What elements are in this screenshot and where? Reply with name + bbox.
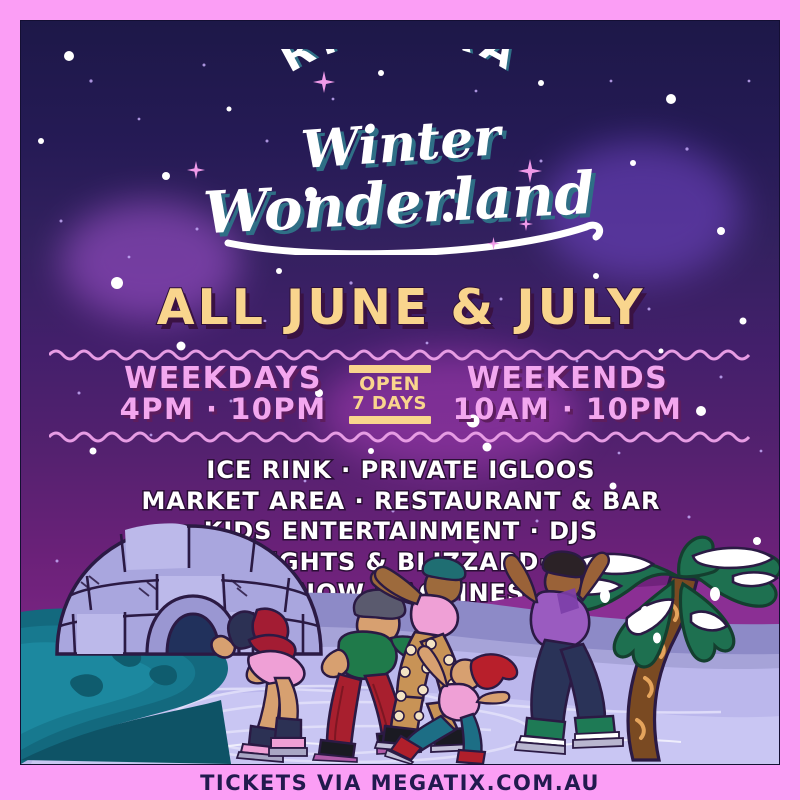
footer-bar: TICKETS VIA MEGATIX.COM.AU	[0, 765, 800, 800]
brand-arch-label: RIVIERA	[272, 49, 531, 82]
weekends-column: WEEKENDS 10AM · 10PM	[453, 364, 683, 424]
weekends-label: WEEKENDS	[453, 364, 683, 395]
weekdays-column: WEEKDAYS 4PM · 10PM	[120, 364, 327, 424]
brand-arch-text: RIVIERA RIVIERA	[21, 49, 780, 121]
logo-block: RIVIERA RIVIERA Winter	[21, 49, 780, 247]
weekends-time: 10AM · 10PM	[453, 395, 683, 425]
page-title: ALL JUNE & JULY	[21, 279, 780, 336]
poster-canvas: RIVIERA RIVIERA Winter	[0, 0, 800, 800]
sparkle-icon	[518, 159, 542, 183]
poster-artwork: RIVIERA RIVIERA Winter	[20, 20, 780, 765]
winter-scene-illustration	[21, 464, 780, 764]
badge-bar-bottom	[349, 416, 431, 424]
badge-line-1: OPEN	[349, 375, 431, 395]
wave-divider-bottom	[49, 429, 753, 445]
sparkle-icon	[313, 71, 335, 93]
weekdays-label: WEEKDAYS	[120, 364, 327, 395]
svg-text:RIVIERA: RIVIERA	[272, 49, 531, 82]
weekdays-time: 4PM · 10PM	[120, 395, 327, 425]
badge-line-2: 7 DAYS	[349, 395, 431, 414]
sparkle-icon	[487, 237, 500, 250]
sparkle-icon	[187, 161, 205, 179]
open-7-days-badge: OPEN 7 DAYS	[349, 363, 431, 426]
hours-section: WEEKDAYS 4PM · 10PM OPEN 7 DAYS WEEKENDS…	[21, 363, 780, 426]
logo-script-block: Winter Winter Wonderland Wonderland	[21, 115, 780, 247]
tickets-text: TICKETS VIA MEGATIX.COM.AU	[200, 771, 600, 795]
badge-bar-top	[349, 365, 431, 373]
sparkle-icon	[519, 217, 533, 231]
